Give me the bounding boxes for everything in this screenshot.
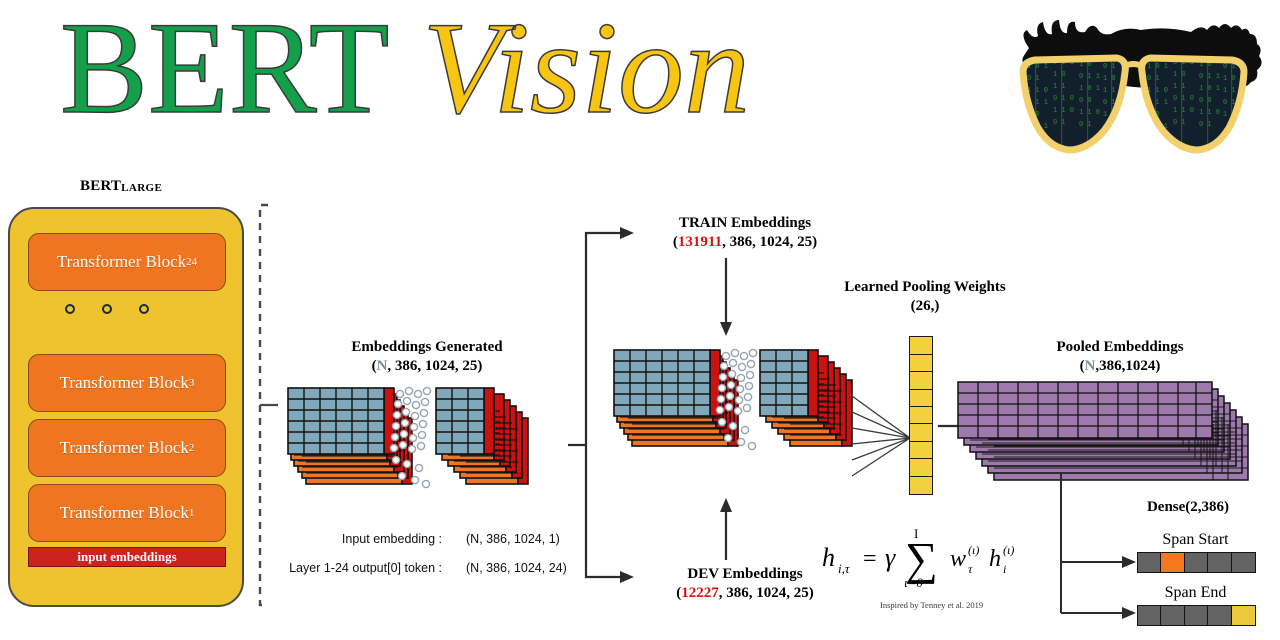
note-input-embedding: Input embedding :(N, 386, 1024, 1) <box>270 532 560 546</box>
weight-cell[interactable] <box>909 423 933 442</box>
right-front-face <box>760 350 808 416</box>
caption-title: Pooled Embeddings <box>985 338 1255 357</box>
span-start-label: Span Start <box>1128 530 1263 550</box>
svg-text:1 0: 1 0 <box>1053 71 1066 79</box>
weight-cell[interactable] <box>909 389 933 408</box>
svg-text:1 0 1: 1 0 1 <box>1199 85 1220 93</box>
span-end-label: Span End <box>1128 583 1263 603</box>
caption-title: TRAIN Embeddings <box>600 214 890 233</box>
svg-text:0 1: 0 1 <box>1173 119 1186 127</box>
svg-text:1 1: 1 1 <box>1223 87 1236 95</box>
span-cell-highlight[interactable] <box>1160 552 1185 573</box>
svg-text:0 1: 0 1 <box>1079 121 1092 129</box>
formula-w-sub: τ <box>968 562 973 576</box>
note-value: (N, 386, 1024, 24) <box>466 561 567 575</box>
train-embeddings-caption: TRAIN Embeddings (131911, 386, 1024, 25) <box>600 214 890 252</box>
pooled-to-dense-connector <box>1053 472 1073 492</box>
caption-shape: (N,386,1024) <box>985 357 1255 376</box>
svg-text:1 0: 1 0 <box>1173 71 1186 79</box>
transformer-block-24[interactable]: Transformer Block24 <box>28 233 226 291</box>
span-start-row[interactable] <box>1137 552 1256 573</box>
weight-cell[interactable] <box>909 406 933 425</box>
span-cell[interactable] <box>1207 552 1232 573</box>
matrix-aviator-sunglasses-icon: 1 0 10 11 1 0 0 1 11 00 0 1 0 1 11 01 1 … <box>1005 14 1270 164</box>
span-cell[interactable] <box>1231 552 1256 573</box>
svg-text:0 1: 0 1 <box>1199 121 1212 129</box>
layers-bracket <box>258 203 280 607</box>
formula-sigma-top: I <box>914 526 918 541</box>
svg-text:1 1: 1 1 <box>1103 87 1116 95</box>
title-vision-text: Vision <box>422 0 750 141</box>
caption-shape: (N, 386, 1024, 25) <box>282 357 572 376</box>
formula-h-sub: i <box>1003 562 1006 576</box>
formula-h-sup: (ι) <box>1003 543 1014 557</box>
caption-title: Embeddings Generated <box>282 338 572 357</box>
block-label: Transformer Block <box>57 252 186 272</box>
shape-n-var: N <box>1085 358 1096 374</box>
formula-h: h <box>989 546 1001 572</box>
train-count: 131911 <box>678 234 722 250</box>
bert-large-main: BERT <box>80 178 121 194</box>
formula-gamma: γ <box>885 543 896 572</box>
svg-text:1 1 0: 1 1 0 <box>1147 87 1168 95</box>
svg-text:0 0: 0 0 <box>1199 97 1212 105</box>
formula-w-sup: (ι) <box>968 543 979 557</box>
block-label: Transformer Block <box>60 373 189 393</box>
bert-large-label: BERTLARGE <box>80 178 162 195</box>
pooling-fan-lines <box>852 388 912 488</box>
svg-text:1 1: 1 1 <box>1053 83 1066 91</box>
input-embeddings-bar: input embeddings <box>28 547 226 567</box>
pooled-front-face <box>958 382 1212 438</box>
block-index: 3 <box>189 377 195 389</box>
svg-text:0 1 1: 0 1 1 <box>1079 73 1100 81</box>
formula-lhs-sub: i,τ <box>838 561 851 576</box>
bert-large-sub: LARGE <box>121 182 162 194</box>
svg-text:1 1 0: 1 1 0 <box>1079 109 1100 117</box>
weight-cell[interactable] <box>909 354 933 373</box>
caption-shape: (131911, 386, 1024, 25) <box>600 233 890 252</box>
span-cell-highlight[interactable] <box>1231 605 1256 626</box>
span-cell[interactable] <box>1137 552 1162 573</box>
svg-text:0 1: 0 1 <box>1053 119 1066 127</box>
caption-title: Learned Pooling Weights <box>800 278 1050 297</box>
attribution-credit: Inspired by Tenney et al. 2019 <box>880 600 983 610</box>
dev-count: 12227 <box>681 585 719 601</box>
svg-text:1 1 0: 1 1 0 <box>1053 107 1074 115</box>
svg-text:0 1: 0 1 <box>1103 63 1116 71</box>
svg-text:0 1 0: 0 1 0 <box>1053 95 1074 103</box>
embeddings-generated-cube-stack <box>288 388 573 513</box>
formula-w: w <box>950 546 966 572</box>
caption-shape: (26,) <box>800 297 1050 316</box>
formula-lhs: h <box>822 543 835 572</box>
svg-text:1 1 0: 1 1 0 <box>1173 107 1194 115</box>
dense-split-arrows <box>1060 488 1140 628</box>
left-front-face <box>288 388 384 454</box>
svg-text:0 1 1: 0 1 1 <box>1199 73 1220 81</box>
span-cell[interactable] <box>1160 605 1185 626</box>
svg-text:0 1: 0 1 <box>1223 63 1236 71</box>
transformer-block-3[interactable]: Transformer Block3 <box>28 354 226 412</box>
embeddings-generated-caption: Embeddings Generated (N, 386, 1024, 25) <box>282 338 572 376</box>
pooling-formula: h i,τ = γ ∑ I ι=0 w τ (ι) h i (ι) <box>822 524 1032 588</box>
title-bert-text: BERT <box>60 0 389 141</box>
svg-text:1 1 0: 1 1 0 <box>1027 87 1048 95</box>
dot-icon <box>102 304 112 314</box>
ellipsis-dots <box>65 304 185 314</box>
pooling-weight-vector[interactable] <box>909 338 933 495</box>
block-index: 1 <box>189 507 195 519</box>
shape-n-var: N <box>377 358 388 374</box>
svg-text:1 1: 1 1 <box>1173 83 1186 91</box>
weight-cell[interactable] <box>909 458 933 477</box>
transformer-block-1[interactable]: Transformer Block1 <box>28 484 226 542</box>
block-index: 24 <box>186 256 197 268</box>
span-cell[interactable] <box>1184 552 1209 573</box>
train-down-arrow <box>718 258 734 336</box>
weight-cell[interactable] <box>909 336 933 355</box>
block-label: Transformer Block <box>60 438 189 458</box>
formula-sigma-bottom: ι=0 <box>904 575 923 590</box>
svg-text:1 1 0: 1 1 0 <box>1199 109 1220 117</box>
span-cell[interactable] <box>1207 605 1232 626</box>
span-cell[interactable] <box>1184 605 1209 626</box>
weight-cell[interactable] <box>909 371 933 390</box>
dev-up-arrow <box>718 498 734 560</box>
pooled-embeddings-caption: Pooled Embeddings (N,386,1024) <box>985 338 1255 376</box>
note-layer-output: Layer 1-24 output[0] token :(N, 386, 102… <box>270 561 567 575</box>
svg-text:0 1: 0 1 <box>1223 99 1236 107</box>
svg-text:1 0 1: 1 0 1 <box>1079 85 1100 93</box>
transformer-block-2[interactable]: Transformer Block2 <box>28 419 226 477</box>
pooling-weights-caption: Learned Pooling Weights (26,) <box>800 278 1050 316</box>
bert-large-container: Transformer Block24 Transformer Block3 T… <box>8 207 244 607</box>
note-value: (N, 386, 1024, 1) <box>466 532 560 546</box>
svg-text:0 0: 0 0 <box>1079 97 1092 105</box>
svg-text:0 1: 0 1 <box>1103 99 1116 107</box>
pooled-embeddings-stack <box>958 382 1270 494</box>
left-front-face <box>614 350 710 416</box>
svg-text:0 1: 0 1 <box>1147 75 1160 83</box>
svg-text:1 0 1: 1 0 1 <box>1147 63 1168 71</box>
dot-icon <box>139 304 149 314</box>
diagram-canvas: BERT Vision 1 0 10 11 1 0 0 1 11 00 0 1 … <box>0 0 1280 640</box>
page-title: BERT Vision <box>60 2 750 134</box>
right-front-face <box>436 388 484 454</box>
span-end-row[interactable] <box>1137 605 1256 626</box>
dot-icon <box>65 304 75 314</box>
note-label: Input embedding : <box>270 532 442 546</box>
weight-cell[interactable] <box>909 476 933 495</box>
weight-cell[interactable] <box>909 441 933 460</box>
note-label: Layer 1-24 output[0] token : <box>270 561 442 575</box>
block-index: 2 <box>189 442 195 454</box>
svg-text:0 1: 0 1 <box>1027 75 1040 83</box>
middle-cube-stack <box>614 350 874 475</box>
span-cell[interactable] <box>1137 605 1162 626</box>
svg-text:0 1 0: 0 1 0 <box>1173 95 1194 103</box>
block-label: Transformer Block <box>60 503 189 523</box>
formula-equals: = <box>863 546 877 572</box>
